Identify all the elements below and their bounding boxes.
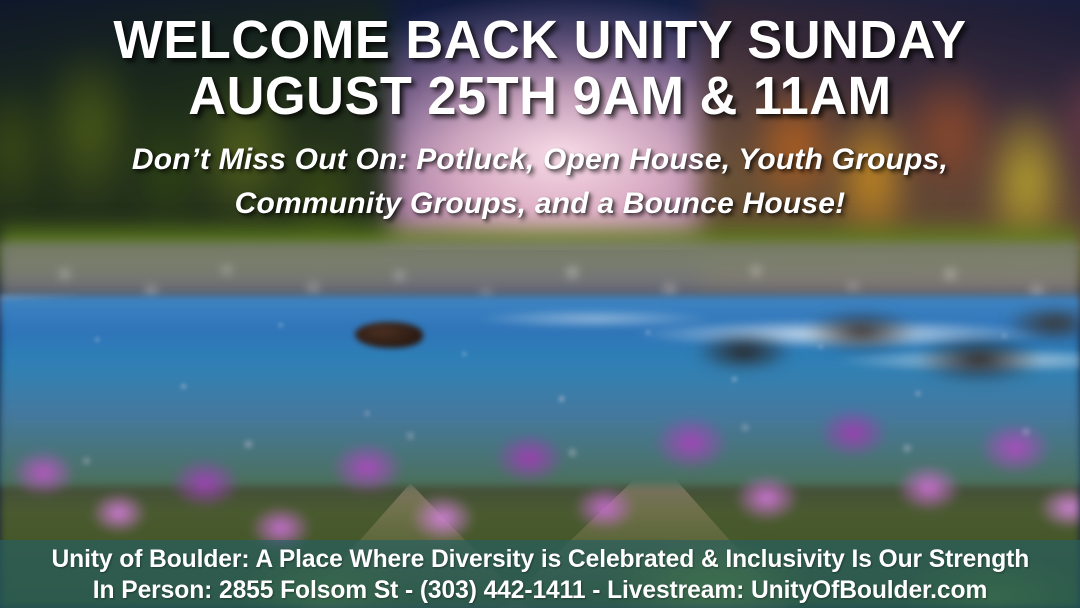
- headline: WELCOME BACK UNITY SUNDAY AUGUST 25TH 9A…: [16, 12, 1064, 124]
- subheadline-line-1: Don’t Miss Out On: Potluck, Open House, …: [0, 138, 1080, 182]
- river-rock: [355, 322, 423, 348]
- footer-contact: In Person: 2855 Folsom St - (303) 442-14…: [93, 575, 987, 606]
- headline-line-1: WELCOME BACK UNITY SUNDAY: [16, 12, 1064, 68]
- event-flyer: WELCOME BACK UNITY SUNDAY AUGUST 25TH 9A…: [0, 0, 1080, 608]
- footer-tagline: Unity of Boulder: A Place Where Diversit…: [51, 544, 1029, 575]
- footer-banner: Unity of Boulder: A Place Where Diversit…: [0, 540, 1080, 608]
- subheadline-line-2: Community Groups, and a Bounce House!: [0, 182, 1080, 226]
- headline-line-2: AUGUST 25TH 9AM & 11AM: [16, 68, 1064, 124]
- subheadline: Don’t Miss Out On: Potluck, Open House, …: [0, 138, 1080, 226]
